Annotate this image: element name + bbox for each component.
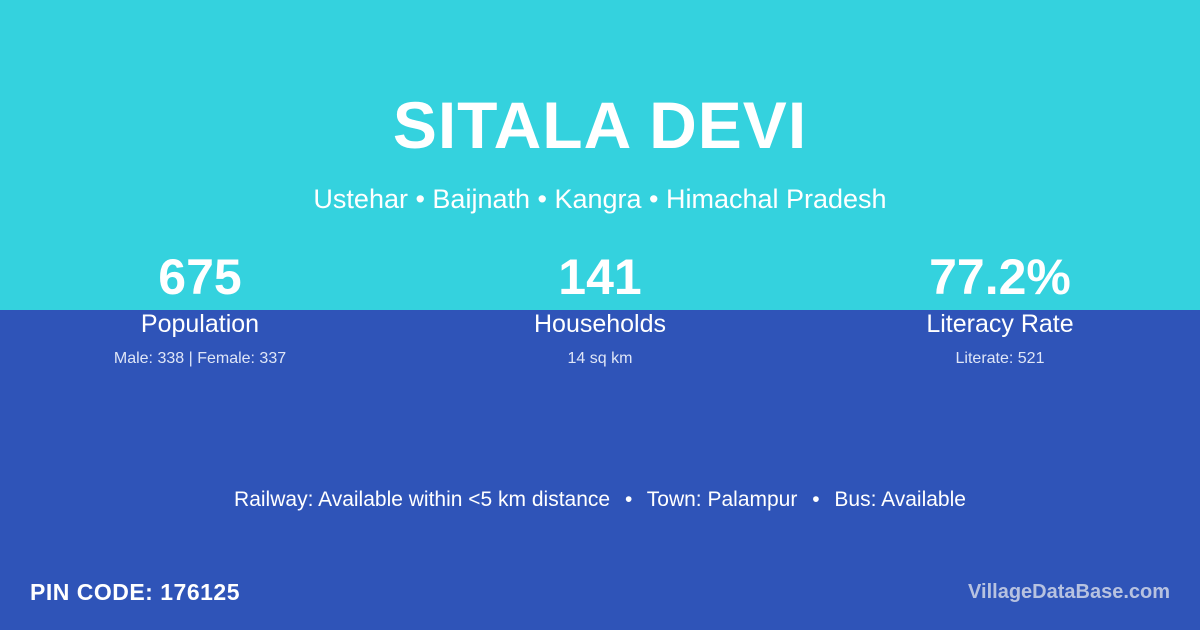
facility-line: Railway: Available within <5 km distance…	[0, 486, 1200, 514]
fact-separator: •	[803, 488, 828, 511]
page-title: SITALA DEVI	[0, 86, 1200, 164]
pin-code: PIN CODE: 176125	[30, 579, 240, 606]
fact-town: Town: Palampur	[647, 488, 798, 511]
stats-row: 675 Population Male: 338 | Female: 337 1…	[0, 248, 1200, 370]
fact-separator: •	[616, 488, 641, 511]
breadcrumb: Ustehar • Baijnath • Kangra • Himachal P…	[0, 182, 1200, 216]
stat-households: 141 Households 14 sq km	[400, 248, 800, 370]
stat-label: Literacy Rate	[800, 308, 1200, 340]
stat-subtext: 14 sq km	[400, 348, 800, 370]
stat-value: 77.2%	[800, 248, 1200, 306]
stat-label: Population	[0, 308, 400, 340]
fact-railway: Railway: Available within <5 km distance	[234, 488, 610, 511]
site-brand: VillageDataBase.com	[968, 581, 1170, 604]
village-info-card: SITALA DEVI Ustehar • Baijnath • Kangra …	[0, 0, 1200, 630]
stat-label: Households	[400, 308, 800, 340]
stat-literacy-rate: 77.2% Literacy Rate Literate: 521	[800, 248, 1200, 370]
stat-value: 675	[0, 248, 400, 306]
stat-subtext: Male: 338 | Female: 337	[0, 348, 400, 370]
stat-subtext: Literate: 521	[800, 348, 1200, 370]
stat-value: 141	[400, 248, 800, 306]
fact-bus: Bus: Available	[834, 488, 966, 511]
stat-population: 675 Population Male: 338 | Female: 337	[0, 248, 400, 370]
